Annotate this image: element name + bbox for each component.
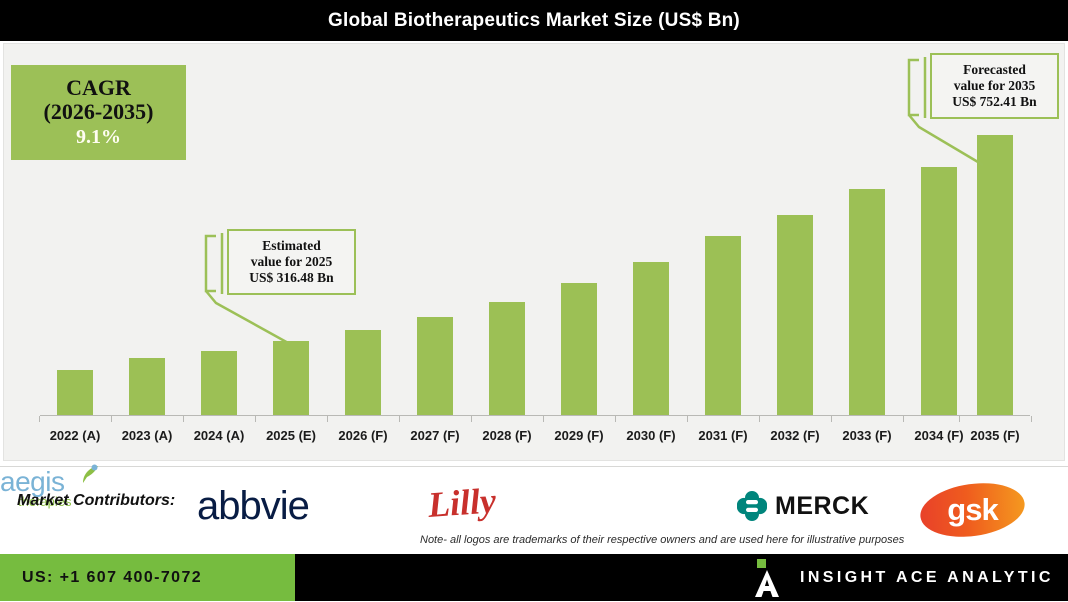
callout-estimated-line1: Estimated xyxy=(262,238,321,254)
footer-bar: US: +1 607 400-7072 INSIGHT ACE ANALYTIC xyxy=(0,554,1068,601)
callout-forecasted-2035: Forecasted value for 2035 US$ 752.41 Bn xyxy=(930,53,1059,119)
callout-forecasted-line1: Forecasted xyxy=(963,62,1026,78)
callout-estimated-line3: US$ 316.48 Bn xyxy=(249,270,333,286)
callout-forecasted-line3: US$ 752.41 Bn xyxy=(952,94,1036,110)
merck-logo-text: MERCK xyxy=(775,492,869,521)
brand-name-text: INSIGHT ACE ANALYTIC xyxy=(800,569,1054,587)
gsk-logo-text: gsk xyxy=(920,484,1025,536)
footer-phone-block: US: +1 607 400-7072 xyxy=(0,554,295,601)
infographic-page: Global Biotherapeutics Market Size (US$ … xyxy=(0,0,1068,601)
callout-forecasted-line2: value for 2035 xyxy=(954,78,1036,94)
aegis-logo-text: aegis xyxy=(0,466,64,497)
callout-estimated-line2: value for 2025 xyxy=(251,254,333,270)
footer-phone-text: US: +1 607 400-7072 xyxy=(22,569,202,587)
brand-block: INSIGHT ACE ANALYTIC xyxy=(750,554,1054,601)
logo-disclaimer-note: Note- all logos are trademarks of their … xyxy=(420,534,904,546)
callout-estimated-2025: Estimated value for 2025 US$ 316.48 Bn xyxy=(227,229,356,295)
insight-ace-a-logo-icon xyxy=(750,559,784,597)
merck-cross-icon xyxy=(737,491,767,521)
aegis-swoosh-icon xyxy=(79,463,101,487)
merck-logo: MERCK xyxy=(737,491,869,521)
gsk-logo: gsk xyxy=(920,484,1025,536)
